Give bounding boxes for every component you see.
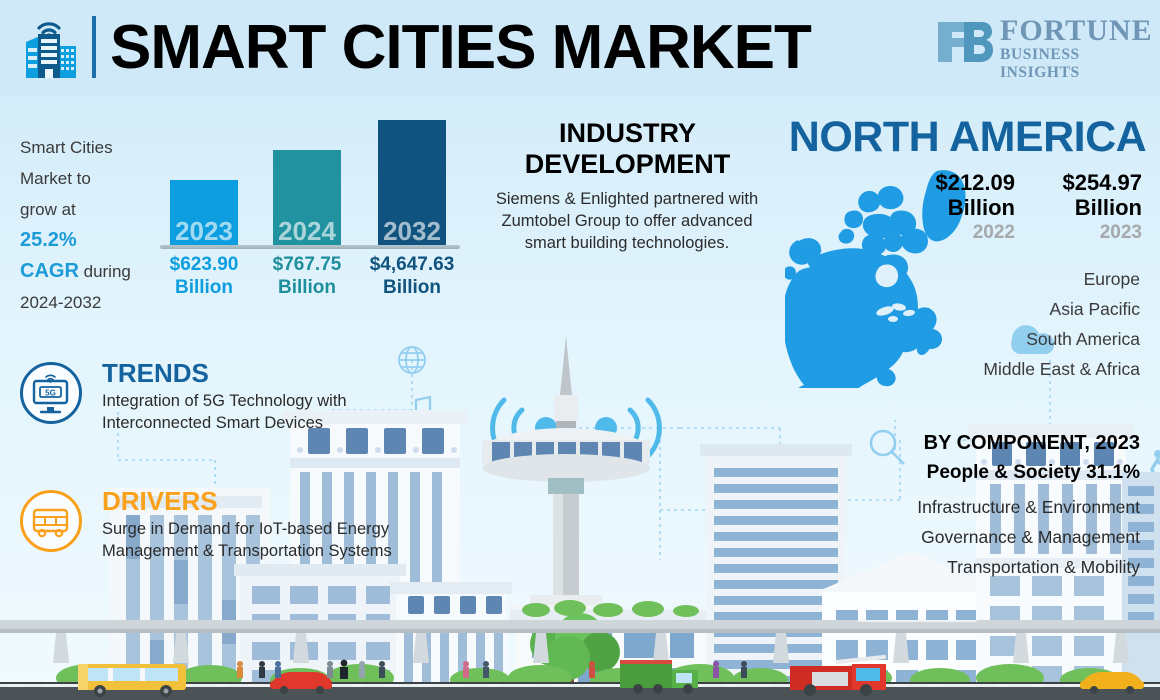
na-figure-2022: $212.09 Billion 2022 (895, 170, 1015, 245)
road-and-skytrain (0, 620, 1160, 700)
region-list: Europe Asia Pacific South America Middle… (820, 264, 1140, 384)
drivers-title: DRIVERS (102, 486, 218, 517)
trends-block: 5G TRENDS Integration of 5G Technology w… (20, 362, 400, 457)
bar-2032-unit: Billion (358, 276, 466, 299)
trends-title: TRENDS (102, 358, 209, 389)
cagr-during: during (79, 262, 131, 281)
bar-2024-year: 2024 (273, 216, 341, 247)
infographic-root: SMART CITIES MARKET FORTUNE BUSINESS INS… (0, 0, 1160, 700)
component-item-infrastructure[interactable]: Infrastructure & Environment (800, 492, 1140, 522)
bar-2024-label: $767.75 Billion (261, 253, 353, 299)
bar-2023-unit: Billion (158, 276, 250, 299)
na-unit-2022: Billion (895, 195, 1015, 220)
drivers-body: Surge in Demand for IoT-based Energy Man… (102, 518, 392, 562)
monitor-5g-icon: 5G (23, 365, 78, 420)
bus-icon (23, 493, 78, 548)
na-year-2023: 2023 (1022, 220, 1142, 245)
na-figure-2023: $254.97 Billion 2023 (1022, 170, 1142, 245)
bar-2032[interactable]: 2032 (378, 120, 446, 245)
bar-group: 2023 2024 2032 (160, 115, 460, 250)
logo-tagline: BUSINESS INSIGHTS (1000, 46, 1144, 82)
fire-truck (790, 655, 886, 696)
cagr-label: CAGR (20, 260, 79, 282)
chart-baseline (160, 245, 460, 249)
industry-development-body: Siemens & Enlighted partnered with Zumto… (482, 188, 772, 254)
by-component-leader: People & Society 31.1% (810, 462, 1140, 484)
header-divider (92, 16, 96, 78)
north-america-title: NORTH AMERICA (780, 113, 1155, 162)
header: SMART CITIES MARKET FORTUNE BUSINESS INS… (0, 0, 1160, 96)
na-value-2023: $254.97 (1022, 170, 1142, 195)
bar-2023-value: $623.90 (158, 253, 250, 276)
cagr-line-1: Smart Cities (20, 132, 170, 163)
region-item-europe[interactable]: Europe (820, 264, 1140, 294)
cagr-statement: Smart Cities Market to grow at 25.2% CAG… (20, 132, 170, 318)
market-size-bar-chart: 2023 2024 2032 $623.90 Billion $767.75 B… (160, 115, 460, 300)
bar-2023-label: $623.90 Billion (158, 253, 250, 299)
bar-2023-year: 2023 (170, 216, 238, 247)
region-item-middle-east-africa[interactable]: Middle East & Africa (820, 354, 1140, 384)
region-item-asia-pacific[interactable]: Asia Pacific (820, 294, 1140, 324)
svg-text:5G: 5G (45, 389, 56, 398)
na-value-2022: $212.09 (895, 170, 1015, 195)
drivers-icon-circle (20, 490, 82, 552)
fb-monogram-icon (934, 12, 996, 70)
cagr-rate: 25.2% (20, 229, 77, 251)
logo-name: FORTUNE (1000, 14, 1153, 48)
by-component-list: Infrastructure & Environment Governance … (800, 492, 1140, 582)
cagr-period: 2024-2032 (20, 287, 170, 318)
bar-2023[interactable]: 2023 (170, 180, 238, 245)
bar-2032-value: $4,647.63 (358, 253, 466, 276)
smart-building-wifi-icon (14, 12, 82, 84)
component-item-transportation[interactable]: Transportation & Mobility (800, 552, 1140, 582)
bar-2024[interactable]: 2024 (273, 150, 341, 245)
trends-icon-circle: 5G (20, 362, 82, 424)
cagr-line-2: Market to (20, 163, 170, 194)
cagr-line-3: grow at (20, 194, 170, 225)
industry-development-title: INDUSTRY DEVELOPMENT (490, 118, 765, 180)
na-year-2022: 2022 (895, 220, 1015, 245)
bar-2024-unit: Billion (261, 276, 353, 299)
fortune-business-insights-logo[interactable]: FORTUNE BUSINESS INSIGHTS (934, 12, 1144, 74)
bar-2024-value: $767.75 (261, 253, 353, 276)
skytrain-vehicle (856, 620, 978, 622)
trends-body: Integration of 5G Technology with Interc… (102, 390, 392, 434)
industry-title-line-2: DEVELOPMENT (490, 149, 765, 180)
page-title: SMART CITIES MARKET (110, 10, 811, 86)
bar-2032-year: 2032 (378, 216, 446, 247)
industry-title-line-1: INDUSTRY (490, 118, 765, 149)
by-component-title: BY COMPONENT, 2023 (810, 432, 1140, 455)
na-unit-2023: Billion (1022, 195, 1142, 220)
region-item-south-america[interactable]: South America (820, 324, 1140, 354)
component-item-governance[interactable]: Governance & Management (800, 522, 1140, 552)
bar-2032-label: $4,647.63 Billion (358, 253, 466, 299)
drivers-block: DRIVERS Surge in Demand for IoT-based En… (20, 490, 400, 585)
